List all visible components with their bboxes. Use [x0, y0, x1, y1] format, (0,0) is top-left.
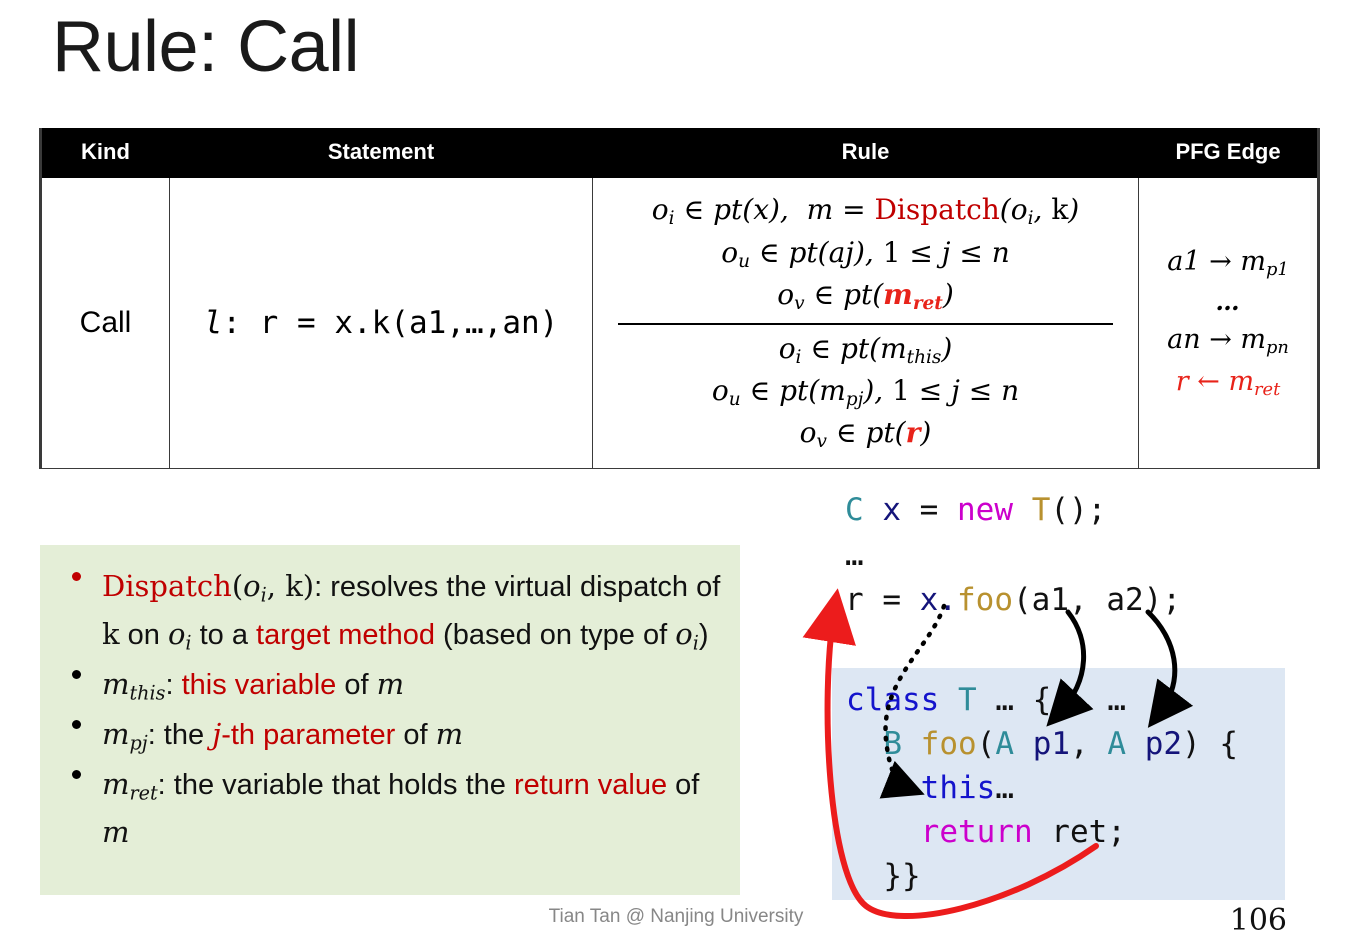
cell-pfg-edge: a1 → mp1 … an → mpn r ← mret — [1139, 178, 1319, 469]
code-snippet-caller: C x = new T(); … r = x.foo(a1, a2); — [845, 488, 1181, 623]
token-type-A2: A — [1107, 726, 1126, 762]
token-param-p1: p1 — [1033, 726, 1070, 762]
rule-table: Kind Statement Rule PFG Edge Call l: r =… — [39, 128, 1320, 469]
list-item: mpj: the j-th parameter of m — [58, 711, 726, 759]
bullet-icon — [72, 670, 81, 679]
column-header-pfg-edge: PFG Edge — [1139, 129, 1319, 178]
page-title: Rule: Call — [52, 2, 359, 92]
token-var-r: r — [845, 582, 864, 618]
token-keyword-class: class — [846, 682, 939, 718]
token-keyword-return: return — [921, 814, 1033, 850]
token-type-T2: T — [958, 682, 977, 718]
slide-root: Rule: Call Kind Statement Rule PFG Edge … — [0, 0, 1352, 950]
conclusion-line-1: oi ∈ pt(mthis) — [779, 332, 953, 365]
token-var-x2: x — [920, 582, 939, 618]
token-type-T: T — [1032, 492, 1051, 528]
token-var-x: x — [882, 492, 901, 528]
conclusion-line-2: ou ∈ pt(mpj), 1 ≤ j ≤ n — [712, 374, 1019, 407]
pfg-edge-3: r ← mret — [1139, 362, 1317, 404]
bullet-icon — [72, 720, 81, 729]
statement-body: : r = x.k(a1,…,an) — [222, 305, 558, 341]
cell-statement: l: r = x.k(a1,…,an) — [170, 178, 593, 469]
premise-line-2: ou ∈ pt(aj), 1 ≤ j ≤ n — [721, 236, 1010, 269]
pfg-edge-2: an → mpn — [1139, 320, 1317, 362]
statement-code: l: r = x.k(a1,…,an) — [204, 305, 559, 341]
list-item: Dispatch(oi, k): resolves the virtual di… — [58, 563, 726, 659]
pfg-edge-1: a1 → mp1 — [1139, 242, 1317, 284]
list-item: mthis: this variable of m — [58, 661, 726, 709]
bullet-icon — [72, 770, 81, 779]
token-type-A1: A — [995, 726, 1014, 762]
kind-label: Call — [80, 306, 132, 339]
inference-bar — [618, 323, 1113, 325]
bullet-icon — [72, 572, 81, 581]
code-callee-lines: class T … { … B foo(A p1, A p2) { this… … — [832, 668, 1285, 898]
token-type-B: B — [883, 726, 902, 762]
token-type-C: C — [845, 492, 864, 528]
premise-line-1: oi ∈ pt(x), m = Dispatch(oi, k) — [652, 193, 1079, 226]
token-param-p2: p2 — [1145, 726, 1182, 762]
footer-attribution: Tian Tan @ Nanjing University — [0, 906, 1352, 928]
pfg-edge-list: a1 → mp1 … an → mpn r ← mret — [1139, 242, 1317, 403]
rule-premises: oi ∈ pt(x), m = Dispatch(oi, k) ou ∈ pt(… — [618, 190, 1113, 317]
table-header-row: Kind Statement Rule PFG Edge — [41, 129, 1319, 178]
cell-kind: Call — [41, 178, 170, 469]
list-item: mret: the variable that holds the return… — [58, 761, 726, 857]
page-number: 106 — [1230, 903, 1287, 938]
inference-rule: oi ∈ pt(x), m = Dispatch(oi, k) ou ∈ pt(… — [618, 190, 1113, 455]
token-method-foo2: foo — [921, 726, 977, 762]
notes-panel: Dispatch(oi, k): resolves the virtual di… — [40, 545, 740, 895]
conclusion-line-3: ov ∈ pt(r) — [800, 416, 932, 449]
token-keyword-this: this — [921, 770, 996, 806]
note-dispatch-term: Dispatch — [102, 569, 232, 603]
table-row: Call l: r = x.k(a1,…,an) oi ∈ pt(x), m =… — [41, 178, 1319, 469]
token-keyword-new: new — [957, 492, 1013, 528]
statement-label: l — [204, 305, 223, 341]
column-header-statement: Statement — [170, 129, 593, 178]
column-header-kind: Kind — [41, 129, 170, 178]
rule-conclusions: oi ∈ pt(mthis) ou ∈ pt(mpj), 1 ≤ j ≤ n o… — [618, 329, 1113, 456]
token-method-foo: foo — [957, 582, 1013, 618]
code-ellipsis: … — [845, 537, 864, 573]
code-snippet-callee: class T … { … B foo(A p1, A p2) { this… … — [832, 668, 1285, 900]
pfg-edge-ellipsis: … — [1139, 284, 1317, 320]
cell-rule: oi ∈ pt(x), m = Dispatch(oi, k) ou ∈ pt(… — [593, 178, 1139, 469]
notes-list: Dispatch(oi, k): resolves the virtual di… — [40, 545, 740, 857]
column-header-rule: Rule — [593, 129, 1139, 178]
premise-line-3: ov ∈ pt(mret) — [777, 278, 954, 311]
